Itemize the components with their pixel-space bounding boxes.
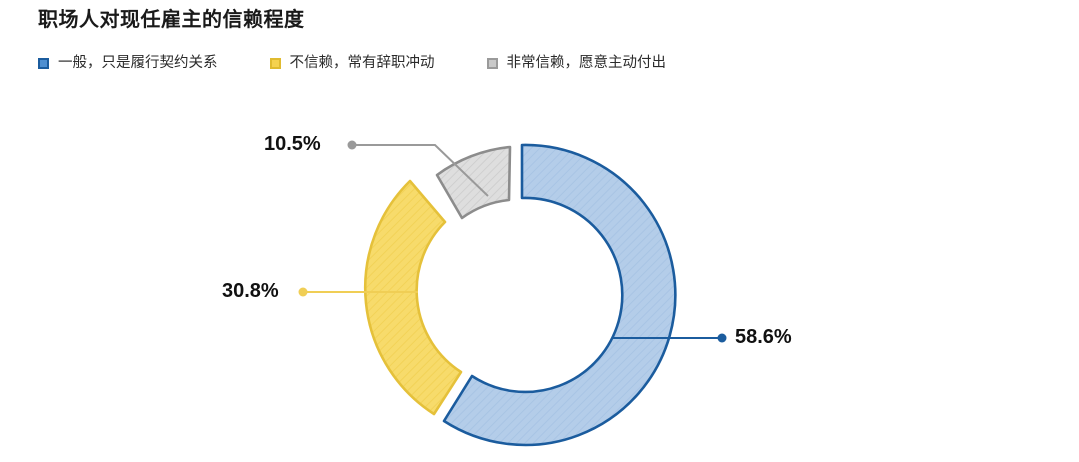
data-label-gray: 10.5% [264,133,321,156]
data-label-blue: 58.6% [735,326,792,349]
pie-slice-yellow[interactable] [365,181,461,414]
data-label-yellow: 30.8% [222,280,279,303]
donut-chart-svg [0,0,1079,462]
donut-chart [0,0,1079,462]
